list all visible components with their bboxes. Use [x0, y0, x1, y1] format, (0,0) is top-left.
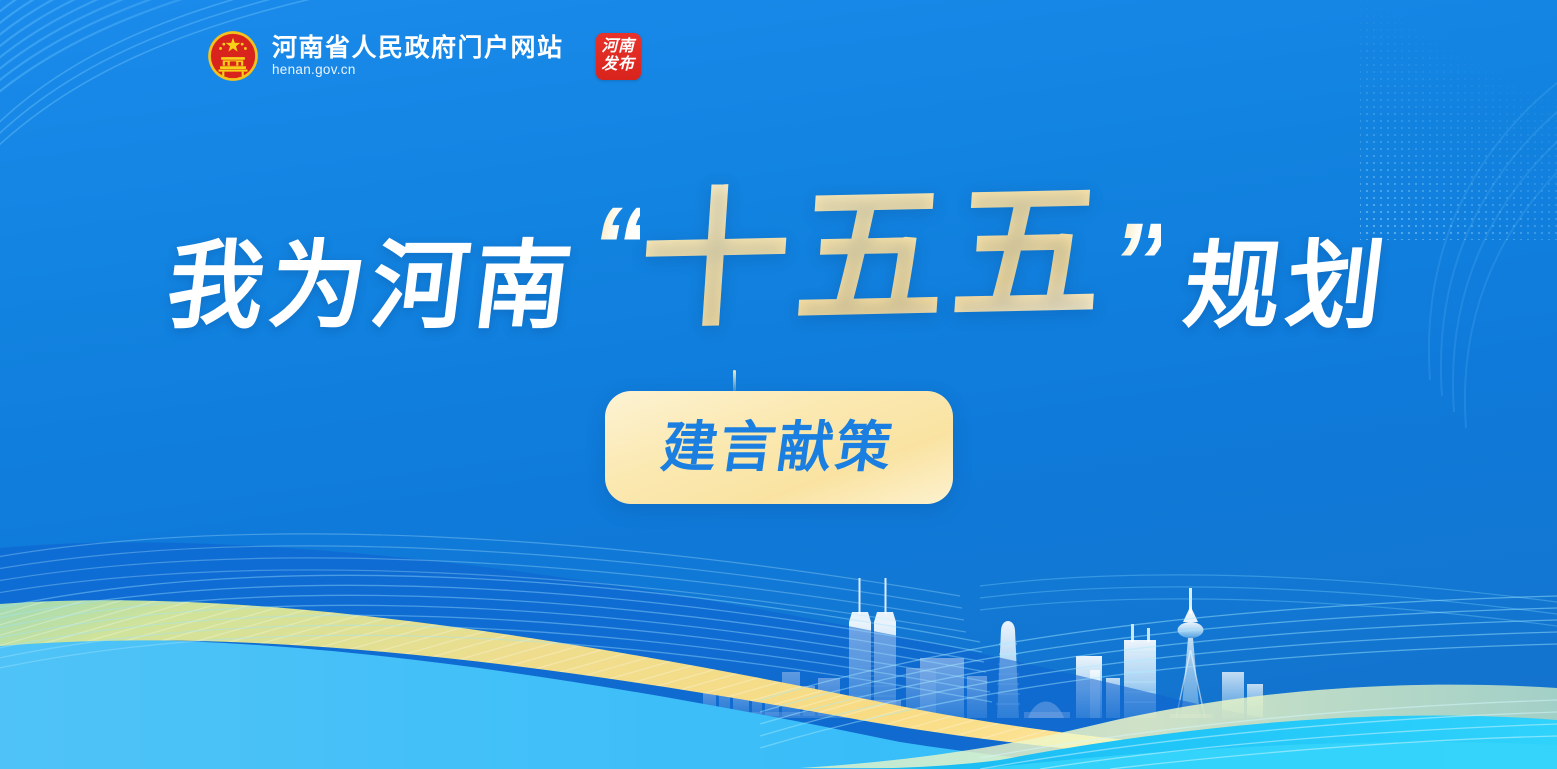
quoted-calligraphy: “ 十五五 ”	[590, 181, 1160, 331]
site-header: 河南省人民政府门户网站 henan.gov.cn 河南 发布	[206, 29, 641, 83]
national-emblem-icon	[206, 29, 260, 83]
headline-suffix: 规划	[1179, 239, 1395, 335]
suggestions-cta-label: 建言献策	[659, 420, 899, 475]
henan-release-badge[interactable]: 河南 发布	[596, 33, 641, 80]
release-badge-line1: 河南	[602, 39, 635, 55]
site-title-block: 河南省人民政府门户网站 henan.gov.cn	[272, 35, 564, 77]
site-title: 河南省人民政府门户网站	[272, 35, 564, 61]
quote-close-mark: ”	[1111, 223, 1161, 304]
suggestions-cta-button[interactable]: 建言献策	[605, 391, 953, 504]
release-badge-line2: 发布	[602, 57, 635, 73]
calligraphy-five-year-plan: 十五五	[629, 176, 1120, 336]
site-domain: henan.gov.cn	[272, 63, 564, 77]
headline: 我为河南 “ 十五五 ” 规划	[0, 126, 1557, 386]
henan-five-year-plan-banner: 河南省人民政府门户网站 henan.gov.cn 河南 发布 我为河南 “ 十五…	[0, 0, 1557, 769]
headline-prefix: 我为河南	[163, 239, 583, 335]
